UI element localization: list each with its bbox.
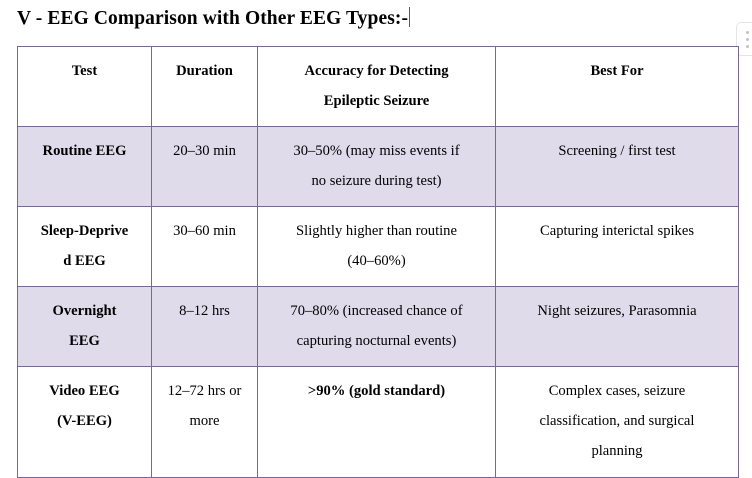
cell-duration: 30–60 min [152, 207, 258, 287]
cell-best-for-line2: classification, and surgical [502, 406, 732, 436]
cell-duration-label: 20–30 min [152, 127, 257, 176]
cell-best-for: Complex cases, seizure classification, a… [496, 367, 739, 478]
cell-best-for-label: Screening / first test [496, 127, 738, 176]
document-page: V - EEG Comparison with Other EEG Types:… [0, 0, 752, 435]
cell-accuracy: 30–50% (may miss events if no seizure du… [258, 127, 496, 207]
cell-test-line2: d EEG [24, 246, 145, 276]
grip-dot-icon [746, 31, 749, 34]
cell-accuracy-line1: >90% (gold standard) [258, 367, 495, 416]
table-header-row: Test Duration Accuracy for Detecting Epi… [18, 47, 739, 127]
cell-best-for-line3: planning [502, 436, 732, 466]
cell-test-line2: EEG [24, 326, 145, 356]
cell-duration-line2: more [158, 406, 251, 436]
eeg-comparison-table: Test Duration Accuracy for Detecting Epi… [17, 46, 739, 478]
table-row: Routine EEG 20–30 min 30–50% (may miss e… [18, 127, 739, 207]
grip-dot-icon [746, 38, 749, 41]
cell-best-for-label: Capturing interictal spikes [496, 207, 738, 256]
cell-accuracy-line2: capturing nocturnal events) [264, 326, 489, 356]
column-header-accuracy-line2: Epileptic Seizure [264, 86, 489, 116]
column-header-test-label: Test [18, 47, 151, 96]
column-header-best-for-label: Best For [496, 47, 738, 96]
table-row: Video EEG (V-EEG) 12–72 hrs or more >90%… [18, 367, 739, 478]
cell-accuracy-line1: Slightly higher than routine [264, 216, 489, 246]
cell-duration-label: 30–60 min [152, 207, 257, 256]
cell-duration: 8–12 hrs [152, 287, 258, 367]
page-title: V - EEG Comparison with Other EEG Types:… [17, 6, 410, 32]
cell-test-line2: (V-EEG) [24, 406, 145, 436]
cell-accuracy: >90% (gold standard) [258, 367, 496, 478]
cell-test: Overnight EEG [18, 287, 152, 367]
cell-accuracy-line1: 70–80% (increased chance of [264, 296, 489, 326]
cell-best-for: Capturing interictal spikes [496, 207, 739, 287]
table-row: Sleep-Deprive d EEG 30–60 min Slightly h… [18, 207, 739, 287]
cell-test-line1: Video EEG [24, 376, 145, 406]
cell-best-for-line1: Complex cases, seizure [502, 376, 732, 406]
cell-accuracy-line2: (40–60%) [264, 246, 489, 276]
cell-test: Routine EEG [18, 127, 152, 207]
cell-duration-line1: 12–72 hrs or [158, 376, 251, 406]
cell-best-for: Night seizures, Parasomnia [496, 287, 739, 367]
grip-dot-icon [746, 45, 749, 48]
cell-accuracy: 70–80% (increased chance of capturing no… [258, 287, 496, 367]
column-header-accuracy: Accuracy for Detecting Epileptic Seizure [258, 47, 496, 127]
cell-best-for-label: Night seizures, Parasomnia [496, 287, 738, 336]
column-header-best-for: Best For [496, 47, 739, 127]
column-header-test: Test [18, 47, 152, 127]
cell-test-label: Routine EEG [18, 127, 151, 176]
table-row: Overnight EEG 8–12 hrs 70–80% (increased… [18, 287, 739, 367]
cell-test: Video EEG (V-EEG) [18, 367, 152, 478]
page-title-text: V - EEG Comparison with Other EEG Types:… [17, 8, 408, 29]
cell-test-line1: Sleep-Deprive [24, 216, 145, 246]
text-cursor [409, 7, 410, 27]
cell-test-line1: Overnight [24, 296, 145, 326]
cell-accuracy: Slightly higher than routine (40–60%) [258, 207, 496, 287]
cell-accuracy-line1: 30–50% (may miss events if [264, 136, 489, 166]
column-header-duration: Duration [152, 47, 258, 127]
cell-accuracy-line2: no seizure during test) [264, 166, 489, 196]
cell-duration-label: 8–12 hrs [152, 287, 257, 336]
cell-duration: 12–72 hrs or more [152, 367, 258, 478]
cell-best-for: Screening / first test [496, 127, 739, 207]
cell-test: Sleep-Deprive d EEG [18, 207, 152, 287]
column-header-duration-label: Duration [152, 47, 257, 96]
column-header-accuracy-line1: Accuracy for Detecting [264, 56, 489, 86]
cell-duration: 20–30 min [152, 127, 258, 207]
